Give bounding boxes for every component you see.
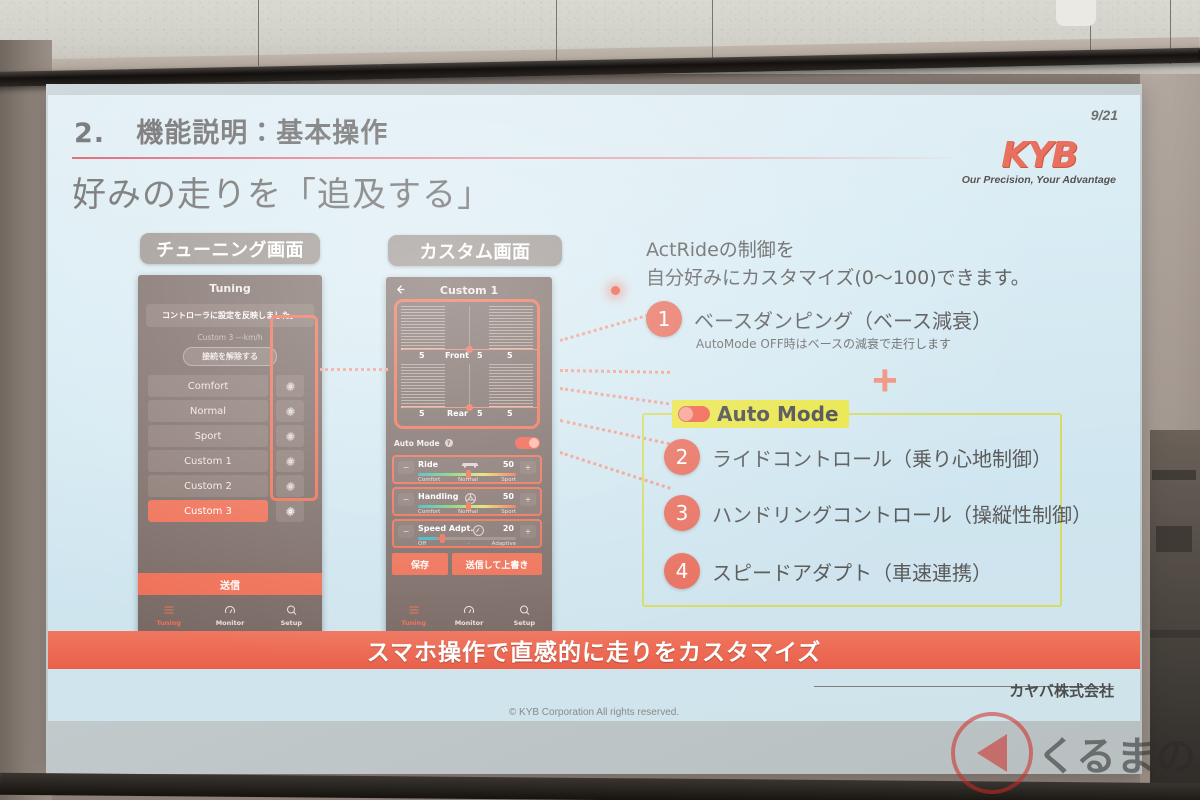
damper-value-fr: 5 bbox=[507, 351, 513, 360]
item-1-sub: AutoMode OFF時はベースの減衰で走行します bbox=[696, 335, 951, 352]
lead-line-2: 自分好みにカスタマイズ(0〜100)できます。 bbox=[646, 265, 1030, 293]
custom-action-buttons: 保存 送信して上書き bbox=[392, 553, 542, 575]
tab-label: Setup bbox=[514, 619, 535, 627]
speed-adapt-minus-button[interactable]: − bbox=[398, 525, 414, 538]
tuning-icon bbox=[407, 604, 421, 616]
ride-minus-button[interactable]: − bbox=[398, 461, 414, 474]
gear-icon-custom-3[interactable] bbox=[276, 500, 304, 522]
speed-adapt-scale-right: Adaptive bbox=[492, 541, 516, 547]
mode-button-normal[interactable]: Normal bbox=[148, 400, 268, 422]
disconnect-button[interactable]: 接続を解除する bbox=[183, 347, 277, 366]
speed-adapt-value: 20 bbox=[503, 524, 514, 533]
base-damping-box: 5 5 Front 5 5 5 Rear 5 bbox=[394, 299, 540, 429]
speed-adapt-plus-button[interactable]: + bbox=[520, 525, 536, 538]
mode-button-custom-3[interactable]: Custom 3 bbox=[148, 500, 268, 522]
tab-monitor[interactable]: Monitor bbox=[199, 595, 260, 635]
custom-tabbar: Tuning Monitor Setup bbox=[386, 595, 552, 635]
damper-bar-rr bbox=[489, 364, 533, 406]
gauge-icon bbox=[462, 604, 476, 616]
slide-headline: 好みの走りを「追及する」 bbox=[72, 167, 492, 216]
custom-screen-mock: Custom 1 5 5 Front 5 5 5 bbox=[386, 277, 552, 635]
tab-label: Monitor bbox=[216, 619, 245, 627]
damper-bar-fl bbox=[401, 306, 445, 348]
handling-label: Handling bbox=[418, 492, 458, 501]
watermark-text: くるまの bbox=[1037, 724, 1196, 782]
auto-mode-chip: Auto Mode bbox=[672, 400, 849, 428]
tab-setup[interactable]: Setup bbox=[261, 595, 322, 635]
presentation-slide: 2. 機能説明：基本操作 好みの走りを「追及する」 9/21 KYB Our P… bbox=[48, 95, 1140, 721]
auto-mode-pill-icon bbox=[678, 406, 710, 422]
damper-bar-rl bbox=[401, 364, 445, 406]
speed-adapt-slider-track[interactable] bbox=[418, 537, 516, 540]
damper-value-rr: 5 bbox=[507, 409, 513, 418]
speed-adapt-control[interactable]: − Speed Adpt. 20 Off · Adaptive + bbox=[392, 519, 542, 548]
room-object bbox=[1150, 630, 1200, 638]
custom-panel-caption: カスタム画面 bbox=[388, 235, 562, 266]
badge-4: 4 bbox=[664, 553, 700, 589]
photo-scene: 2. 機能説明：基本操作 好みの走りを「追及する」 9/21 KYB Our P… bbox=[0, 0, 1200, 800]
ceiling-fixture bbox=[1056, 0, 1096, 26]
badge-2: 2 bbox=[664, 439, 700, 475]
ride-value: 50 bbox=[503, 460, 514, 469]
kyb-logo: KYB Our Precision, Your Advantage bbox=[962, 135, 1116, 186]
tab-label: Setup bbox=[281, 619, 302, 627]
item-2-text: ライドコントロール（乗り心地制御） bbox=[712, 443, 1052, 472]
tuning-icon bbox=[162, 604, 176, 616]
handling-minus-button[interactable]: − bbox=[398, 493, 414, 506]
auto-mode-label: Auto Mode bbox=[394, 439, 440, 448]
handling-value: 50 bbox=[503, 492, 514, 501]
badge-1: 1 bbox=[646, 301, 682, 337]
damper-value-rear-center: 5 bbox=[477, 409, 483, 418]
gear-column-highlight bbox=[270, 315, 318, 501]
tab-setup[interactable]: Setup bbox=[497, 595, 552, 635]
footer-banner-text: スマホ操作で直感的に走りをカスタマイズ bbox=[367, 633, 822, 667]
plus-sign: + bbox=[872, 359, 898, 403]
speed-adapt-label: Speed Adpt. bbox=[418, 524, 473, 533]
ceiling-wire bbox=[258, 0, 259, 66]
setup-icon bbox=[518, 604, 531, 616]
item-3-text: ハンドリングコントロール（操縦性制御） bbox=[712, 499, 1092, 528]
item-4-text: スピードアダプト（車速連携） bbox=[712, 557, 992, 586]
speed-adapt-slider-knob[interactable] bbox=[440, 534, 445, 543]
ceiling-wire bbox=[712, 0, 713, 60]
overwrite-send-button[interactable]: 送信して上書き bbox=[452, 553, 542, 575]
speed-adapt-scale-left: Off bbox=[418, 541, 426, 547]
ride-label: Ride bbox=[418, 460, 438, 469]
ride-scale-mid: Normal bbox=[458, 477, 478, 483]
kyb-logo-text: KYB bbox=[962, 135, 1116, 176]
mode-row: Custom 3 bbox=[148, 500, 312, 522]
tuning-caption-text: チューニング画面 bbox=[156, 236, 304, 262]
tuning-tabbar: Tuning Monitor Setup bbox=[138, 595, 322, 635]
damper-bar-fr bbox=[489, 306, 533, 348]
front-label: Front bbox=[445, 351, 469, 360]
tab-tuning[interactable]: Tuning bbox=[386, 595, 441, 635]
left-wall bbox=[0, 40, 52, 800]
tab-label: Tuning bbox=[156, 619, 180, 627]
handling-scale-mid: Normal bbox=[458, 509, 478, 515]
custom-caption-text: カスタム画面 bbox=[420, 238, 531, 264]
save-button[interactable]: 保存 bbox=[392, 553, 448, 575]
tuning-panel-caption: チューニング画面 bbox=[140, 233, 320, 264]
watermark-logo-icon bbox=[951, 712, 1033, 794]
ride-control[interactable]: − Ride 50 Comfort Normal Sport + bbox=[392, 455, 542, 484]
send-button[interactable]: 送信 bbox=[138, 573, 322, 595]
rear-label: Rear bbox=[447, 409, 468, 418]
tab-label: Tuning bbox=[401, 619, 425, 627]
room-object bbox=[1152, 470, 1196, 480]
connector-tuning-to-custom bbox=[320, 368, 388, 371]
custom-app-title: Custom 1 bbox=[386, 277, 552, 297]
corporate-name: カヤバ株式会社 bbox=[1009, 680, 1114, 701]
badge-3: 3 bbox=[664, 495, 700, 531]
section-title-text: 機能説明：基本操作 bbox=[136, 118, 388, 149]
page-number: 9/21 bbox=[1091, 107, 1118, 123]
tab-tuning[interactable]: Tuning bbox=[138, 595, 199, 635]
mode-button-sport[interactable]: Sport bbox=[148, 425, 268, 447]
mode-button-comfort[interactable]: Comfort bbox=[148, 375, 268, 397]
ride-scale-left: Comfort bbox=[418, 477, 440, 483]
speed-adapt-scale-mid: · bbox=[468, 541, 470, 547]
setup-icon bbox=[285, 604, 298, 616]
ride-plus-button[interactable]: + bbox=[520, 461, 536, 474]
gauge-icon bbox=[223, 604, 237, 616]
watermark: くるまの bbox=[951, 712, 1196, 794]
title-divider bbox=[72, 157, 952, 159]
lead-line-1: ActRideの制御を bbox=[646, 237, 1030, 265]
info-icon[interactable]: ? bbox=[445, 439, 453, 447]
section-number: 2. bbox=[74, 118, 105, 149]
laser-pointer-dot bbox=[611, 286, 620, 295]
handling-plus-button[interactable]: + bbox=[520, 493, 536, 506]
damper-value-rl: 5 bbox=[419, 409, 425, 418]
auto-mode-row: Auto Mode ? bbox=[394, 435, 540, 451]
handling-scale-left: Comfort bbox=[418, 509, 440, 515]
ceiling-wire bbox=[556, 0, 557, 60]
handling-control[interactable]: − Handling 50 Comfort Normal Sport + bbox=[392, 487, 542, 516]
auto-mode-chip-label: Auto Mode bbox=[717, 402, 839, 426]
tuning-app-title: Tuning bbox=[138, 275, 322, 295]
tab-label: Monitor bbox=[455, 619, 484, 627]
tab-monitor[interactable]: Monitor bbox=[441, 595, 496, 635]
watermark-triangle bbox=[977, 734, 1007, 772]
mode-button-custom-1[interactable]: Custom 1 bbox=[148, 450, 268, 472]
back-arrow-icon[interactable] bbox=[394, 283, 407, 296]
handling-scale-right: Sport bbox=[501, 509, 516, 515]
connector-auto-mode bbox=[560, 369, 670, 374]
kyb-tagline: Our Precision, Your Advantage bbox=[962, 174, 1116, 186]
auto-mode-toggle[interactable] bbox=[515, 437, 540, 449]
lead-text: ActRideの制御を 自分好みにカスタマイズ(0〜100)できます。 bbox=[646, 237, 1030, 292]
connector-2 bbox=[560, 387, 669, 405]
item-1-text: ベースダンピング（ベース減衰） bbox=[694, 305, 992, 334]
damper-value-front-center: 5 bbox=[477, 351, 483, 360]
mode-button-custom-2[interactable]: Custom 2 bbox=[148, 475, 268, 497]
ride-scale-right: Sport bbox=[501, 477, 516, 483]
slide-section-title: 2. 機能説明：基本操作 bbox=[74, 111, 388, 150]
room-object bbox=[1156, 526, 1192, 552]
footer-banner: スマホ操作で直感的に走りをカスタマイズ bbox=[48, 631, 1140, 669]
connector-1 bbox=[560, 314, 649, 342]
damper-value-fl: 5 bbox=[419, 351, 425, 360]
